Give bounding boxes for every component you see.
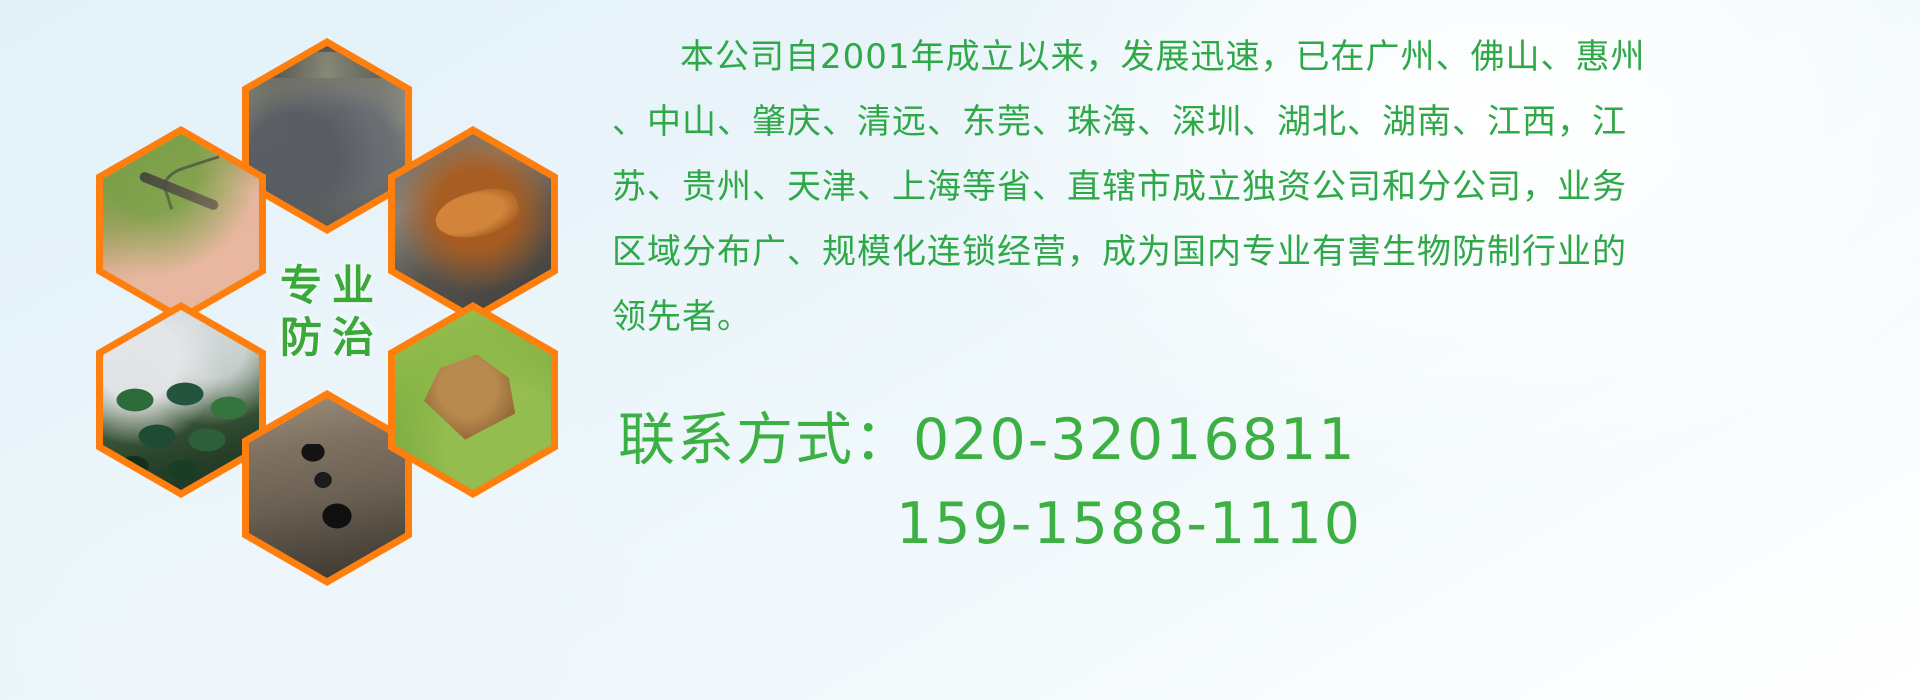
company-description: 本公司自2001年成立以来，发展迅速，已在广州、佛山、惠州 、中山、肇庆、清远、… xyxy=(612,30,1902,355)
contact-block: 联系方式：020-32016811 159-1588-1110 xyxy=(618,398,1908,566)
hex-tile-cockroach-frame xyxy=(395,134,551,314)
mosquito-photo xyxy=(103,134,259,314)
hex-tile-rats xyxy=(242,38,412,234)
hex-tile-flies-frame xyxy=(103,310,259,490)
ant-photo xyxy=(249,398,405,578)
hex-tile-rats-frame xyxy=(249,46,405,226)
promo-banner: 专业 防治 本公司自2001年成立以来，发展迅速，已在广州、佛山、惠州 、中山、… xyxy=(0,0,1920,700)
rats-photo xyxy=(249,46,405,226)
description-line-3: 苏、贵州、天津、上海等省、直辖市成立独资公司和分公司，业务 xyxy=(612,160,1902,215)
description-line-2: 、中山、肇庆、清远、东莞、珠海、深圳、湖北、湖南、江西，江 xyxy=(612,95,1902,150)
contact-phone-secondary[interactable]: 159-1588-1110 xyxy=(618,482,1908,566)
hex-image-cluster: 专业 防治 xyxy=(96,10,596,580)
description-line-4: 区域分布广、规模化连锁经营，成为国内专业有害生物防制行业的 xyxy=(612,225,1902,280)
cockroach-photo xyxy=(395,134,551,314)
center-label-line2: 防治 xyxy=(270,317,384,359)
contact-phone-primary[interactable]: 联系方式：020-32016811 xyxy=(618,398,1908,482)
center-label-line1: 专业 xyxy=(270,265,384,307)
hex-tile-ant-frame xyxy=(249,398,405,578)
hex-tile-flies xyxy=(96,302,266,498)
hex-tile-ant xyxy=(242,390,412,586)
stinkbug-photo xyxy=(395,310,551,490)
description-line-1: 本公司自2001年成立以来，发展迅速，已在广州、佛山、惠州 xyxy=(612,30,1902,85)
center-label-stack: 专业 防治 xyxy=(242,214,412,410)
flies-photo xyxy=(103,310,259,490)
hex-tile-stinkbug-frame xyxy=(395,310,551,490)
description-line-5: 领先者。 xyxy=(612,290,1902,345)
hex-tile-cockroach xyxy=(388,126,558,322)
hex-tile-mosquito xyxy=(96,126,266,322)
hex-tile-center-label: 专业 防治 xyxy=(242,214,412,410)
hex-tile-stinkbug xyxy=(388,302,558,498)
hex-tile-mosquito-frame xyxy=(103,134,259,314)
